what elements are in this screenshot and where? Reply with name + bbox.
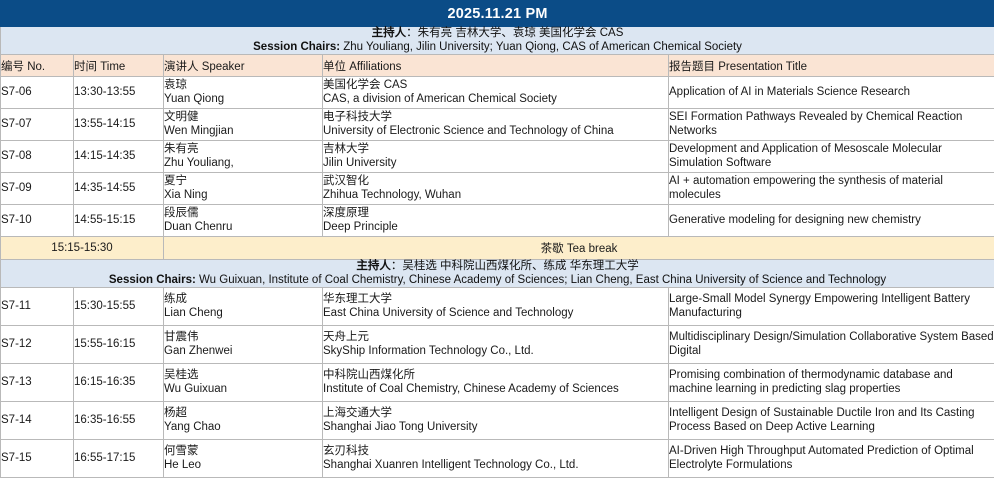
row-speaker: 文明健 Wen Mingjian xyxy=(164,109,323,141)
row-speaker-en: Duan Chenru xyxy=(164,221,322,235)
row-speaker: 袁琼 Yuan Qiong xyxy=(164,77,323,109)
row-affiliation: 电子科技大学 University of Electronic Science … xyxy=(323,109,669,141)
row-affiliation: 上海交通大学 Shanghai Jiao Tong University xyxy=(323,402,669,440)
row-speaker-cn: 袁琼 xyxy=(164,79,322,93)
row-no: S7-07 xyxy=(1,109,74,141)
column-header-title: 报告题目 Presentation Title xyxy=(669,55,994,77)
title-row: 2025.11.21 PM xyxy=(1,1,994,27)
schedule-body: 2025.11.21 PM 主持人：朱有亮 吉林大学、袁琼 美国化学会 CAS … xyxy=(1,1,994,478)
row-speaker: 何雪蒙 He Leo xyxy=(164,440,323,478)
row-affiliation-cn: 中科院山西煤化所 xyxy=(323,369,668,383)
tea-break-row: 15:15-15:30 茶歇 Tea break xyxy=(1,237,994,260)
tea-break-label: 茶歇 Tea break xyxy=(164,237,994,260)
row-speaker-en: Wu Guixuan xyxy=(164,383,322,397)
table-row: S7-10 14:55-15:15 段辰儒 Duan Chenru 深度原理 D… xyxy=(1,205,994,237)
tea-break-time: 15:15-15:30 xyxy=(1,237,164,260)
session-chairs-1-cn: 主持人：朱有亮 吉林大学、袁琼 美国化学会 CAS xyxy=(1,27,994,41)
session-chairs-1-en-label: Session Chairs: xyxy=(253,41,340,53)
session-chairs-2-cn: 主持人：吴桂选 中科院山西煤化所、练成 华东理工大学 xyxy=(1,260,994,274)
row-no: S7-15 xyxy=(1,440,74,478)
row-presentation-title: Application of AI in Materials Science R… xyxy=(669,77,994,109)
row-speaker: 段辰儒 Duan Chenru xyxy=(164,205,323,237)
session-chairs-1-en-text: Zhu Youliang, Jilin University; Yuan Qio… xyxy=(340,41,742,53)
column-header-row: 编号 No. 时间 Time 演讲人 Speaker 单位 Affiliatio… xyxy=(1,55,994,77)
row-affiliation-en: CAS, a division of American Chemical Soc… xyxy=(323,93,668,107)
row-presentation-title: SEI Formation Pathways Revealed by Chemi… xyxy=(669,109,994,141)
row-affiliation-en: Shanghai Jiao Tong University xyxy=(323,421,668,435)
row-speaker: 杨超 Yang Chao xyxy=(164,402,323,440)
session-chairs-1: 主持人：朱有亮 吉林大学、袁琼 美国化学会 CAS Session Chairs… xyxy=(1,27,994,55)
row-no: S7-11 xyxy=(1,288,74,326)
row-affiliation-cn: 电子科技大学 xyxy=(323,111,668,125)
row-affiliation-cn: 玄刃科技 xyxy=(323,445,668,459)
row-affiliation: 华东理工大学 East China University of Science … xyxy=(323,288,669,326)
row-affiliation-en: Shanghai Xuanren Intelligent Technology … xyxy=(323,459,668,473)
row-speaker: 朱有亮 Zhu Youliang, xyxy=(164,141,323,173)
row-speaker-cn: 夏宁 xyxy=(164,175,322,189)
row-affiliation-cn: 吉林大学 xyxy=(323,143,668,157)
row-affiliation-en: University of Electronic Science and Tec… xyxy=(323,125,668,139)
row-time: 16:35-16:55 xyxy=(74,402,164,440)
row-no: S7-06 xyxy=(1,77,74,109)
session-chairs-2-en: Session Chairs: Wu Guixuan, Institute of… xyxy=(1,274,994,288)
row-affiliation-en: SkyShip Information Technology Co., Ltd. xyxy=(323,345,668,359)
row-affiliation-cn: 华东理工大学 xyxy=(323,293,668,307)
table-row: S7-15 16:55-17:15 何雪蒙 He Leo 玄刃科技 Shangh… xyxy=(1,440,994,478)
row-presentation-title: Generative modeling for designing new ch… xyxy=(669,205,994,237)
row-speaker-en: Yuan Qiong xyxy=(164,93,322,107)
row-affiliation: 深度原理 Deep Principle xyxy=(323,205,669,237)
session-chairs-2-cn-label: 主持人 xyxy=(356,260,391,272)
row-speaker-en: Zhu Youliang, xyxy=(164,157,322,171)
session-schedule-table: 2025.11.21 PM 主持人：朱有亮 吉林大学、袁琼 美国化学会 CAS … xyxy=(0,0,994,478)
row-affiliation-en: Jilin University xyxy=(323,157,668,171)
row-presentation-title: Promising combination of thermodynamic d… xyxy=(669,364,994,402)
session-chairs-2-cn-text: ：吴桂选 中科院山西煤化所、练成 华东理工大学 xyxy=(391,260,639,272)
table-row: S7-08 14:15-14:35 朱有亮 Zhu Youliang, 吉林大学… xyxy=(1,141,994,173)
row-time: 13:30-13:55 xyxy=(74,77,164,109)
row-affiliation-cn: 武汉智化 xyxy=(323,175,668,189)
row-no: S7-14 xyxy=(1,402,74,440)
row-speaker-en: Wen Mingjian xyxy=(164,125,322,139)
row-affiliation-en: Deep Principle xyxy=(323,221,668,235)
session-chairs-2-en-text: Wu Guixuan, Institute of Coal Chemistry,… xyxy=(196,274,886,286)
column-header-no: 编号 No. xyxy=(1,55,74,77)
row-speaker: 甘震伟 Gan Zhenwei xyxy=(164,326,323,364)
row-speaker-en: Lian Cheng xyxy=(164,307,322,321)
row-speaker-cn: 何雪蒙 xyxy=(164,445,322,459)
row-affiliation: 美国化学会 CAS CAS, a division of American Ch… xyxy=(323,77,669,109)
row-no: S7-12 xyxy=(1,326,74,364)
table-row: S7-12 15:55-16:15 甘震伟 Gan Zhenwei 天舟上元 S… xyxy=(1,326,994,364)
row-no: S7-08 xyxy=(1,141,74,173)
row-presentation-title: Multidisciplinary Design/Simulation Coll… xyxy=(669,326,994,364)
row-time: 14:55-15:15 xyxy=(74,205,164,237)
session-chairs-1-en: Session Chairs: Zhu Youliang, Jilin Univ… xyxy=(1,41,994,55)
session-chairs-2-en-label: Session Chairs: xyxy=(109,274,196,286)
row-presentation-title: Development and Application of Mesoscale… xyxy=(669,141,994,173)
table-row: S7-06 13:30-13:55 袁琼 Yuan Qiong 美国化学会 CA… xyxy=(1,77,994,109)
row-affiliation-cn: 上海交通大学 xyxy=(323,407,668,421)
row-time: 15:30-15:55 xyxy=(74,288,164,326)
session-chairs-row-1: 主持人：朱有亮 吉林大学、袁琼 美国化学会 CAS Session Chairs… xyxy=(1,27,994,55)
table-row: S7-09 14:35-14:55 夏宁 Xia Ning 武汉智化 Zhihu… xyxy=(1,173,994,205)
row-no: S7-13 xyxy=(1,364,74,402)
row-speaker-cn: 文明健 xyxy=(164,111,322,125)
row-affiliation: 吉林大学 Jilin University xyxy=(323,141,669,173)
row-no: S7-10 xyxy=(1,205,74,237)
row-speaker-cn: 吴桂选 xyxy=(164,369,322,383)
column-header-time: 时间 Time xyxy=(74,55,164,77)
row-speaker-cn: 练成 xyxy=(164,293,322,307)
table-row: S7-07 13:55-14:15 文明健 Wen Mingjian 电子科技大… xyxy=(1,109,994,141)
session-chairs-1-cn-text: ：朱有亮 吉林大学、袁琼 美国化学会 CAS xyxy=(406,27,623,39)
row-presentation-title: Large-Small Model Synergy Empowering Int… xyxy=(669,288,994,326)
row-speaker-cn: 杨超 xyxy=(164,407,322,421)
row-speaker: 练成 Lian Cheng xyxy=(164,288,323,326)
row-speaker-cn: 段辰儒 xyxy=(164,207,322,221)
row-affiliation: 天舟上元 SkyShip Information Technology Co.,… xyxy=(323,326,669,364)
row-presentation-title: Intelligent Design of Sustainable Ductil… xyxy=(669,402,994,440)
row-presentation-title: AI-Driven High Throughput Automated Pred… xyxy=(669,440,994,478)
row-affiliation-cn: 天舟上元 xyxy=(323,331,668,345)
row-time: 16:15-16:35 xyxy=(74,364,164,402)
row-affiliation-en: East China University of Science and Tec… xyxy=(323,307,668,321)
row-speaker-cn: 甘震伟 xyxy=(164,331,322,345)
row-speaker-en: Yang Chao xyxy=(164,421,322,435)
row-time: 13:55-14:15 xyxy=(74,109,164,141)
column-header-speaker: 演讲人 Speaker xyxy=(164,55,323,77)
row-time: 14:15-14:35 xyxy=(74,141,164,173)
row-speaker-en: He Leo xyxy=(164,459,322,473)
row-speaker-en: Xia Ning xyxy=(164,189,322,203)
row-affiliation: 中科院山西煤化所 Institute of Coal Chemistry, Ch… xyxy=(323,364,669,402)
schedule-sheet: 2025.11.21 PM 主持人：朱有亮 吉林大学、袁琼 美国化学会 CAS … xyxy=(0,0,994,477)
row-affiliation-en: Zhihua Technology, Wuhan xyxy=(323,189,668,203)
row-presentation-title: AI + automation empowering the synthesis… xyxy=(669,173,994,205)
page-title: 2025.11.21 PM xyxy=(1,1,994,27)
table-row: S7-11 15:30-15:55 练成 Lian Cheng 华东理工大学 E… xyxy=(1,288,994,326)
row-speaker: 夏宁 Xia Ning xyxy=(164,173,323,205)
column-header-affiliation: 单位 Affiliations xyxy=(323,55,669,77)
row-time: 16:55-17:15 xyxy=(74,440,164,478)
row-speaker-cn: 朱有亮 xyxy=(164,143,322,157)
row-speaker: 吴桂选 Wu Guixuan xyxy=(164,364,323,402)
table-row: S7-13 16:15-16:35 吴桂选 Wu Guixuan 中科院山西煤化… xyxy=(1,364,994,402)
table-row: S7-14 16:35-16:55 杨超 Yang Chao 上海交通大学 Sh… xyxy=(1,402,994,440)
session-chairs-1-cn-label: 主持人 xyxy=(372,27,407,39)
row-affiliation-en: Institute of Coal Chemistry, Chinese Aca… xyxy=(323,383,668,397)
row-affiliation-cn: 美国化学会 CAS xyxy=(323,79,668,93)
session-chairs-row-2: 主持人：吴桂选 中科院山西煤化所、练成 华东理工大学 Session Chair… xyxy=(1,260,994,288)
row-time: 15:55-16:15 xyxy=(74,326,164,364)
row-affiliation: 武汉智化 Zhihua Technology, Wuhan xyxy=(323,173,669,205)
row-time: 14:35-14:55 xyxy=(74,173,164,205)
row-affiliation-cn: 深度原理 xyxy=(323,207,668,221)
session-chairs-2: 主持人：吴桂选 中科院山西煤化所、练成 华东理工大学 Session Chair… xyxy=(1,260,994,288)
row-speaker-en: Gan Zhenwei xyxy=(164,345,322,359)
row-affiliation: 玄刃科技 Shanghai Xuanren Intelligent Techno… xyxy=(323,440,669,478)
row-no: S7-09 xyxy=(1,173,74,205)
